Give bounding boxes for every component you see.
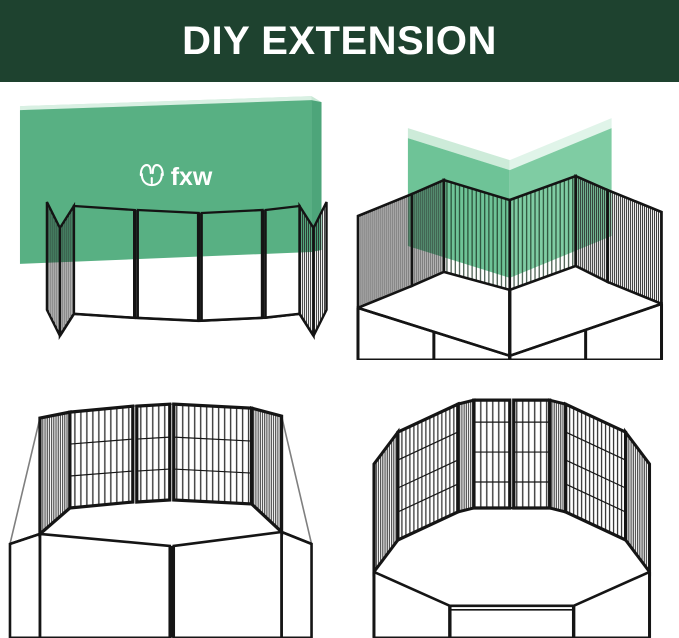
pen-front-panel-right	[282, 532, 312, 638]
oct-panel-back-left-angled	[457, 400, 473, 512]
product-infographic: DIY EXTENSION	[0, 0, 679, 638]
oct-panel-left-mid	[397, 404, 457, 540]
pen-back-panel-2	[137, 404, 170, 502]
octagonal-pen-illustration	[340, 360, 679, 638]
fence-panel-wing-right	[607, 190, 661, 304]
oct-panel-back-left	[473, 400, 509, 508]
fence-panel-right-outer	[314, 202, 327, 336]
figure-straight-wall: fxw	[0, 82, 340, 360]
oct-panel-front-left	[373, 572, 449, 638]
page-title: DIY EXTENSION	[182, 21, 497, 61]
pen-front-panel-left	[10, 534, 40, 638]
pen-front-panel-center-right	[174, 532, 282, 638]
corner-wall-illustration	[340, 82, 679, 360]
pen-back-panel-3	[174, 404, 252, 504]
logo-wordmark: fxw	[171, 163, 213, 191]
figure-rectangular-pen	[0, 360, 340, 638]
oct-panel-left-far	[373, 432, 397, 572]
oct-panel-right-far	[625, 432, 649, 572]
oct-panel-right-mid	[565, 404, 625, 540]
pen-front-panel-center-left	[40, 534, 170, 638]
oct-panel-back-right-angled	[549, 400, 565, 512]
pen-rail-right-diagonal	[282, 532, 312, 544]
straight-wall-illustration: fxw	[0, 82, 340, 360]
fence-bottom-rail	[60, 314, 314, 336]
figure-corner-wall	[340, 82, 679, 360]
oct-panel-front-right	[573, 572, 649, 638]
figure-octagonal-pen	[340, 360, 679, 638]
pen-side-panel-left	[40, 412, 70, 534]
header-banner: DIY EXTENSION	[0, 0, 679, 82]
fence-panel-left-outer	[47, 202, 60, 336]
fence-panel-wing-left	[357, 194, 411, 308]
fence-panel-back-left-a	[411, 180, 443, 286]
pen-back-panel-1	[70, 406, 133, 508]
figure-grid: fxw	[0, 82, 679, 638]
pen-rail-left-diagonal	[10, 534, 40, 544]
oct-panel-back-right	[513, 400, 549, 508]
oct-panel-front-center	[449, 606, 573, 638]
rectangular-pen-illustration	[0, 360, 340, 638]
pen-side-panel-right	[252, 408, 282, 532]
fence-panel-back-right-b	[575, 176, 607, 282]
